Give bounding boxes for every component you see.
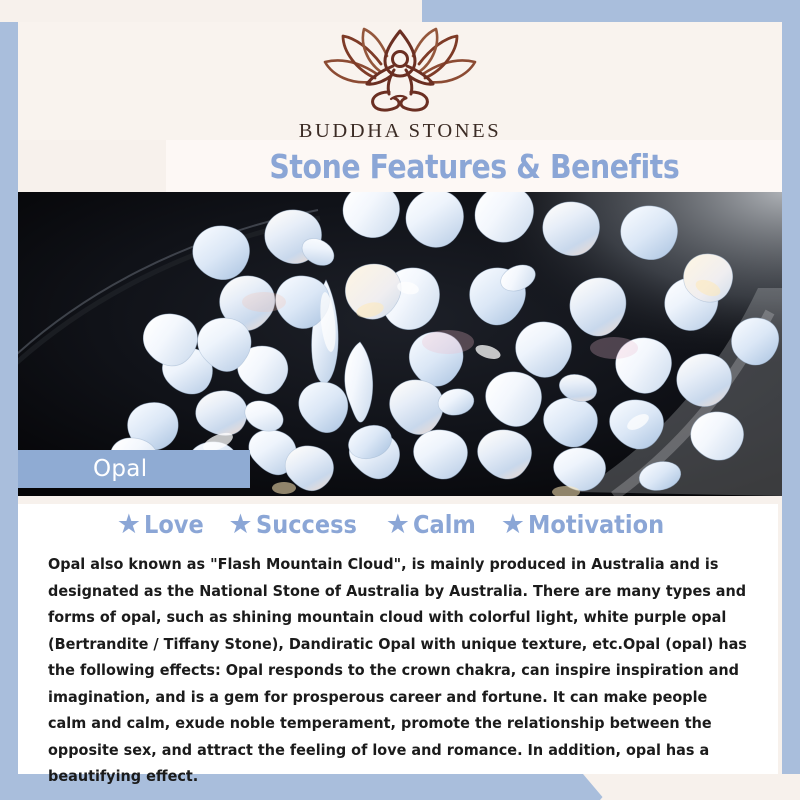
benefit-label: Success xyxy=(256,510,357,539)
benefit-item-success: ★ Success xyxy=(228,510,367,539)
section-title-banner: Stone Features & Benefits xyxy=(166,140,782,192)
star-icon: ★ xyxy=(501,511,525,538)
frame-border-right xyxy=(782,0,800,800)
benefit-item-calm: ★ Calm xyxy=(386,510,483,539)
benefit-label: Motivation xyxy=(528,510,664,539)
benefit-label: Calm xyxy=(413,510,476,539)
page-title: Stone Features & Benefits xyxy=(269,147,679,186)
star-icon: ★ xyxy=(386,511,410,538)
star-icon: ★ xyxy=(228,511,252,538)
benefit-label: Love xyxy=(144,510,204,539)
stone-description: Opal also known as "Flash Mountain Cloud… xyxy=(48,551,750,790)
frame-border-left xyxy=(0,0,18,800)
stone-name: Opal xyxy=(93,456,147,482)
benefits-list: ★ Love ★ Success ★ Calm ★ Motivation xyxy=(18,510,778,539)
stone-info-panel: ★ Love ★ Success ★ Calm ★ Motivation Opa… xyxy=(18,504,778,774)
frame-mask-top xyxy=(0,0,422,22)
benefit-item-love: ★ Love xyxy=(117,510,211,539)
brand-logo: BUDDHA STONES xyxy=(299,26,502,143)
infographic-page: BUDDHA STONES Stone Features & Benefits xyxy=(0,0,800,800)
brand-header: BUDDHA STONES xyxy=(18,22,782,140)
star-icon: ★ xyxy=(117,511,141,538)
stone-name-banner: Opal xyxy=(18,450,250,488)
lotus-meditation-icon xyxy=(315,26,485,119)
benefit-item-motivation: ★ Motivation xyxy=(501,510,679,539)
